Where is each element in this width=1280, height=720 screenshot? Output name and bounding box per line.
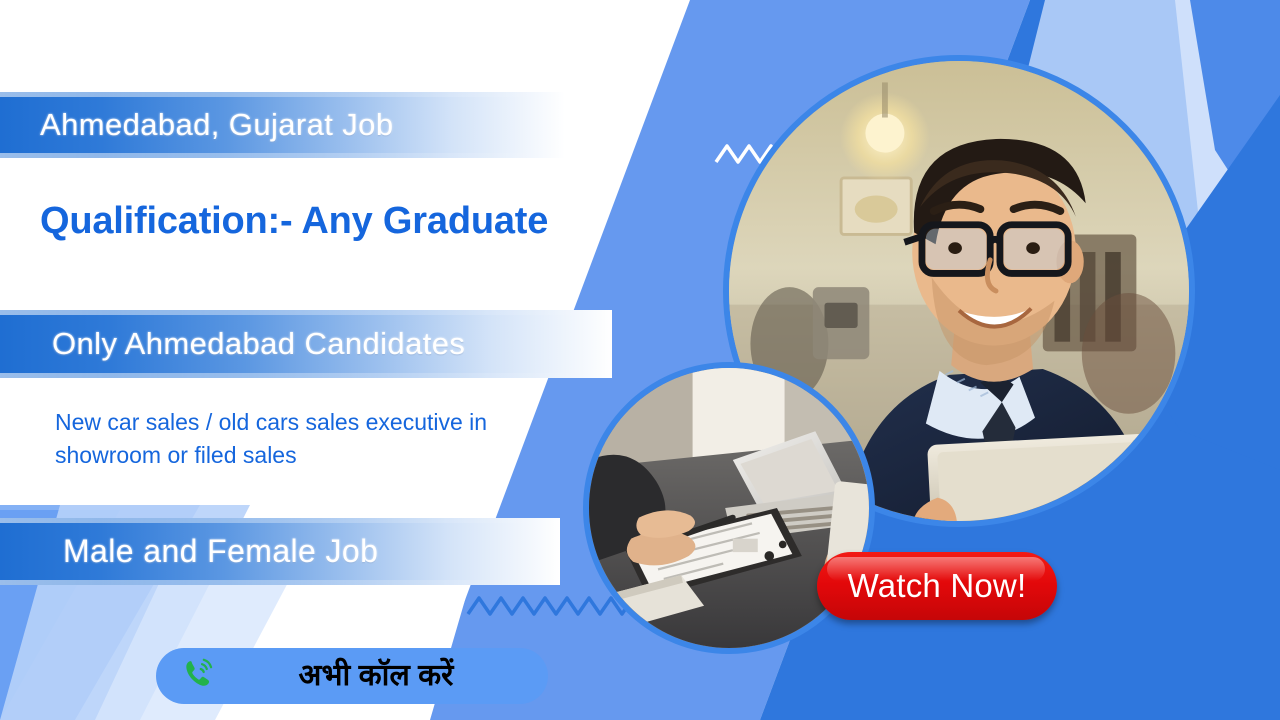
bar-candidates-label: Only Ahmedabad Candidates (52, 326, 465, 362)
bar-gender-label: Male and Female Job (63, 533, 378, 570)
phone-call-icon (178, 655, 220, 697)
call-now-button[interactable]: अभी कॉल करें (156, 648, 548, 704)
qualification-headline: Qualification:- Any Graduate (40, 200, 548, 243)
bar-candidates: Only Ahmedabad Candidates (0, 310, 612, 378)
watch-now-label: Watch Now! (848, 567, 1027, 605)
bar-location: Ahmedabad, Gujarat Job (0, 92, 565, 158)
watch-now-button[interactable]: Watch Now! (817, 552, 1057, 620)
job-description: New car sales / old cars sales executive… (55, 406, 555, 471)
bar-gender: Male and Female Job (0, 518, 560, 585)
job-advertisement-poster: Ahmedabad, Gujarat Job Only Ahmedabad Ca… (0, 0, 1280, 720)
call-now-label: अभी कॉल करें (220, 661, 548, 691)
bar-location-label: Ahmedabad, Gujarat Job (40, 107, 393, 143)
